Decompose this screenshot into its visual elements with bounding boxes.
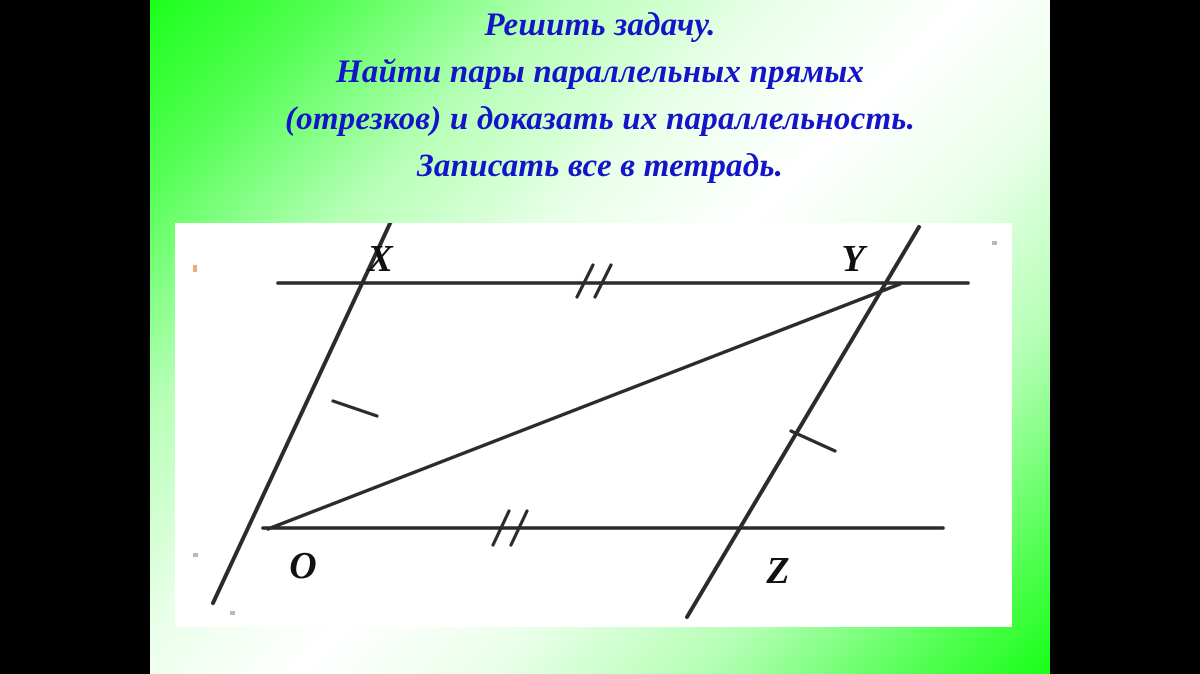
vertex-label-Y: Y bbox=[841, 238, 868, 280]
title-line-4: Записать все в тетрадь. bbox=[150, 143, 1050, 190]
line-diagonal-OY bbox=[268, 284, 900, 529]
slide-title-block: Решить задачу. Найти пары параллельных п… bbox=[150, 2, 1050, 190]
geometry-diagram: X Y O Z bbox=[175, 223, 1012, 627]
scan-speck-orange bbox=[193, 265, 197, 272]
vertex-label-X: X bbox=[366, 238, 394, 280]
scan-speck-gray-right bbox=[992, 241, 997, 245]
scan-speck-gray-left bbox=[193, 553, 198, 557]
line-right-transversal-YZ bbox=[687, 227, 919, 617]
title-line-3: (отрезков) и доказать их параллельность. bbox=[150, 96, 1050, 143]
scan-speck-gray-bottom bbox=[230, 611, 235, 615]
vertex-label-O: O bbox=[289, 545, 316, 587]
title-line-2: Найти пары параллельных прямых bbox=[150, 49, 1050, 96]
title-line-1: Решить задачу. bbox=[150, 2, 1050, 49]
slide-root: Решить задачу. Найти пары параллельных п… bbox=[0, 0, 1200, 674]
tick-double-top-line bbox=[577, 265, 611, 297]
vertex-label-Z: Z bbox=[765, 550, 789, 592]
tick-single-right-transversal bbox=[791, 431, 835, 451]
tick-single-left-transversal bbox=[333, 401, 377, 416]
geometry-figure-panel: X Y O Z bbox=[175, 223, 1012, 627]
slide-stage: Решить задачу. Найти пары параллельных п… bbox=[150, 0, 1050, 674]
